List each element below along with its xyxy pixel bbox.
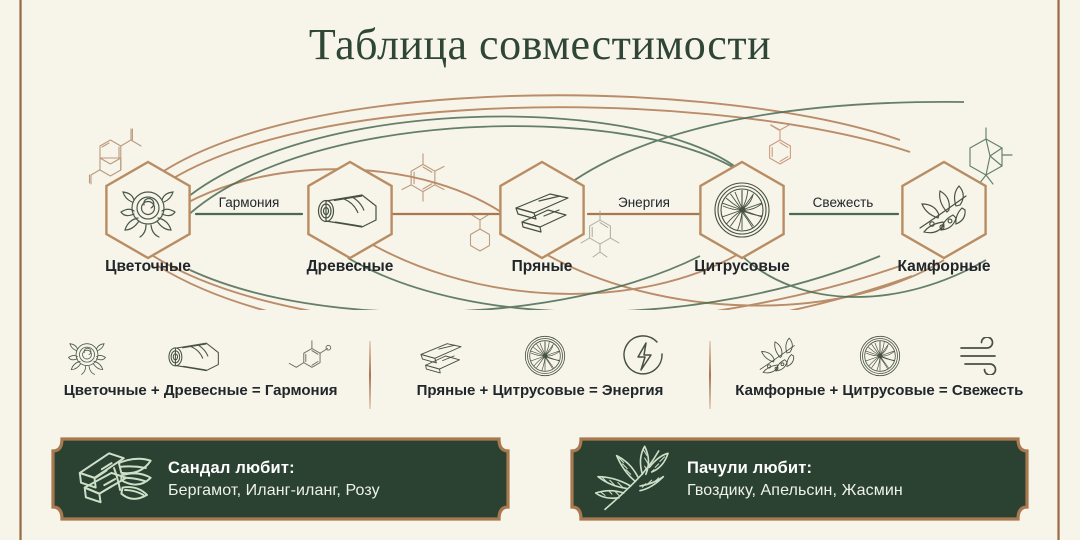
phenol-molecule: [387, 154, 455, 201]
benzoate-molecule: [770, 121, 793, 164]
camphor-molecule: [970, 128, 1018, 184]
legend-icons-energy: [414, 332, 666, 380]
legend-row: Цветочные + Древесные = Гармония Пряны: [36, 332, 1044, 418]
legend-divider-2: [709, 341, 711, 409]
lightning-bolt-icon: [622, 334, 666, 378]
card-text: Сандал любит: Бергамот, Иланг-иланг, Роз…: [162, 457, 380, 502]
node-label-citrus: Цитрусовые: [694, 258, 789, 276]
card-content: Пачули любит: Гвоздику, Апельсин, Жасмин: [569, 436, 1030, 522]
node-camphor[interactable]: [902, 162, 985, 258]
node-spicy[interactable]: [500, 162, 583, 258]
legend-formula-energy: Пряные + Цитрусовые = Энергия: [417, 382, 664, 399]
page-title: Таблица совместимости: [0, 18, 1080, 72]
legend-formula-harmony: Цветочные + Древесные = Гармония: [64, 382, 338, 399]
edge-label-freshness: Свежесть: [813, 195, 874, 210]
trimethyl-molecule: [581, 211, 619, 257]
citrus-icon: [522, 333, 568, 379]
legend-group-harmony: Цветочные + Древесные = Гармония: [36, 332, 365, 418]
node-label-spicy: Пряные: [512, 258, 573, 276]
edge-label-energy: Энергия: [618, 195, 670, 210]
card-items: Бергамот, Иланг-иланг, Розу: [168, 479, 380, 502]
node-label-floral: Цветочные: [105, 258, 191, 276]
card-items: Гвоздику, Апельсин, Жасмин: [687, 479, 903, 502]
wind-icon: [957, 337, 1005, 375]
pairing-cards: Сандал любит: Бергамот, Иланг-иланг, Роз…: [50, 436, 1030, 522]
node-woody[interactable]: [308, 162, 391, 258]
card-content: Сандал любит: Бергамот, Иланг-иланг, Роз…: [50, 436, 511, 522]
creosol-molecule-icon: [282, 335, 338, 377]
ring-molecule: [471, 215, 490, 251]
citrus-icon: [857, 333, 903, 379]
card-title: Пачули любит:: [687, 457, 903, 479]
patchouli-sprig-icon: [585, 443, 681, 515]
card-sandal[interactable]: Сандал любит: Бергамот, Иланг-иланг, Роз…: [50, 436, 511, 522]
leaf-sprig-icon: [753, 334, 803, 378]
legend-group-energy: Пряные + Цитрусовые = Энергия: [375, 332, 704, 418]
infographic-page: Таблица совместимости: [0, 0, 1080, 540]
legend-icons-harmony: [64, 332, 338, 380]
sandalwood-logs-icon: [66, 443, 162, 515]
legend-group-freshness: Камфорные + Цитрусовые = Свежесть: [715, 332, 1044, 418]
legend-formula-freshness: Камфорные + Цитрусовые = Свежесть: [735, 382, 1023, 399]
edge-label-harmony: Гармония: [219, 195, 280, 210]
legend-icons-freshness: [753, 332, 1005, 380]
node-citrus[interactable]: [700, 162, 783, 258]
log-icon: [168, 335, 224, 377]
card-patchouli[interactable]: Пачули любит: Гвоздику, Апельсин, Жасмин: [569, 436, 1030, 522]
rose-icon: [64, 335, 110, 377]
card-title: Сандал любит:: [168, 457, 380, 479]
cinnamon-icon: [414, 335, 468, 377]
node-label-woody: Древесные: [307, 258, 394, 276]
legend-divider-1: [369, 341, 371, 409]
card-text: Пачули любит: Гвоздику, Апельсин, Жасмин: [681, 457, 903, 502]
node-label-camphor: Камфорные: [897, 258, 990, 276]
